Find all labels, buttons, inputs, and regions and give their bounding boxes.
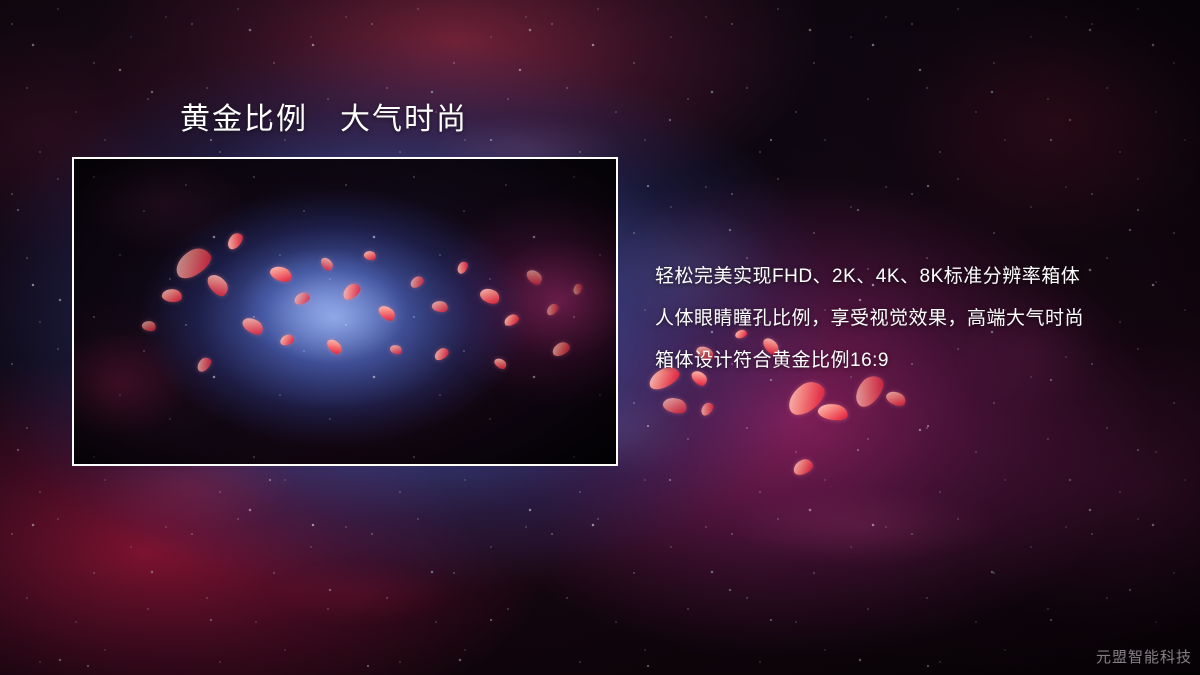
petal-shape [884,388,908,409]
body-line-1: 轻松完美实现FHD、2K、4K、8K标准分辨率箱体 [655,256,1155,298]
petal-shape [782,376,830,420]
watermark: 元盟智能科技 [1096,646,1192,667]
body-line-2: 人体眼睛瞳孔比例，享受视觉效果，高端大气时尚 [655,298,1155,340]
panel-nebula-image [74,159,616,464]
presentation-slide: 黄金比例 大气时尚 轻松完美实现FHD、2K、4K、8K标准分辨率箱体 人体眼睛… [0,0,1200,675]
petal-shape [817,401,850,423]
page-title: 黄金比例 大气时尚 [180,102,468,138]
image-panel[interactable] [72,157,618,466]
body-line-3: 箱体设计符合黄金比例16:9 [655,340,1155,382]
petal-shape [698,401,715,418]
body-text-block: 轻松完美实现FHD、2K、4K、8K标准分辨率箱体 人体眼睛瞳孔比例，享受视觉效… [655,256,1155,382]
petal-shape [791,457,815,477]
petal-shape [661,395,688,417]
